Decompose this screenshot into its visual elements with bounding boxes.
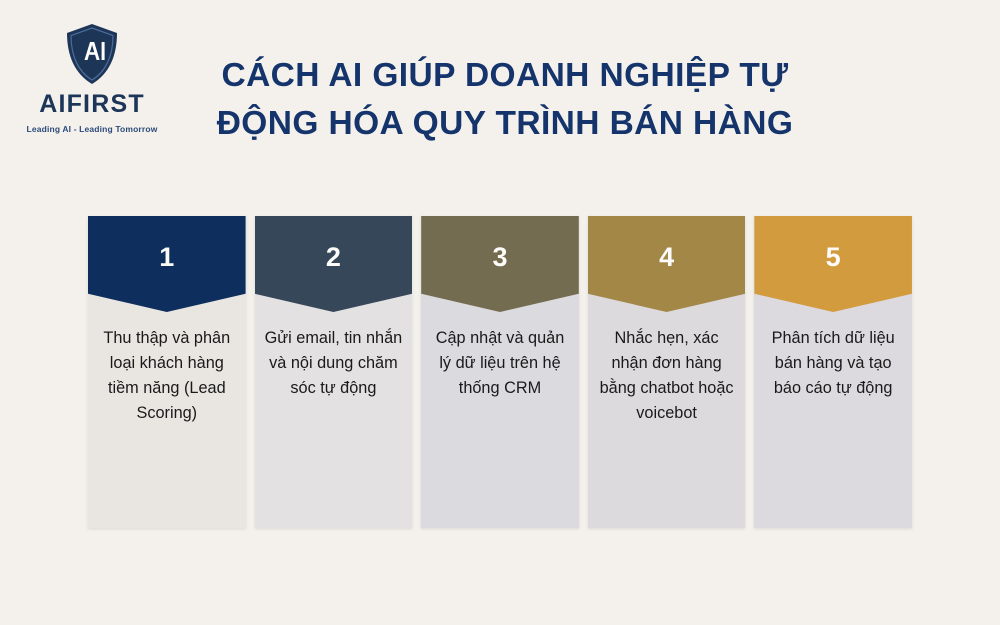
step-number: 2 <box>326 244 341 271</box>
step-number: 3 <box>492 244 507 271</box>
step-description: Cập nhật và quản lý dữ liệu trên hệ thốn… <box>428 326 572 401</box>
page-title-line-1: CÁCH AI GIÚP DOANH NGHIỆP TỰ <box>180 52 830 100</box>
brand-logo: AIFIRST Leading AI - Leading Tomorrow <box>18 22 166 134</box>
step-description: Thu thập và phân loại khách hàng tiềm nă… <box>95 326 239 426</box>
step-chevron-header: 2 <box>255 216 413 312</box>
step-card[interactable]: 1Thu thập và phân loại khách hàng tiềm n… <box>88 216 246 528</box>
steps-row: 1Thu thập và phân loại khách hàng tiềm n… <box>88 216 912 528</box>
page-title-line-2: ĐỘNG HÓA QUY TRÌNH BÁN HÀNG <box>180 100 830 148</box>
step-chevron-header: 3 <box>421 216 579 312</box>
step-number: 1 <box>159 244 174 271</box>
step-card[interactable]: 2Gửi email, tin nhắn và nội dung chăm só… <box>255 216 413 528</box>
step-chevron-header: 1 <box>88 216 246 312</box>
step-card[interactable]: 4Nhắc hẹn, xác nhận đơn hàng bằng chatbo… <box>588 216 746 528</box>
step-card[interactable]: 5Phân tích dữ liệu bán hàng và tạo báo c… <box>754 216 912 528</box>
step-description: Gửi email, tin nhắn và nội dung chăm sóc… <box>262 326 406 401</box>
step-number: 4 <box>659 244 674 271</box>
brand-name: AIFIRST <box>18 90 166 119</box>
step-chevron-header: 4 <box>588 216 746 312</box>
step-description: Nhắc hẹn, xác nhận đơn hàng bằng chatbot… <box>595 326 739 426</box>
step-description: Phân tích dữ liệu bán hàng và tạo báo cá… <box>761 326 905 401</box>
brand-tagline: Leading AI - Leading Tomorrow <box>18 124 166 134</box>
step-chevron-header: 5 <box>754 216 912 312</box>
step-card[interactable]: 3Cập nhật và quản lý dữ liệu trên hệ thố… <box>421 216 579 528</box>
page-title: CÁCH AI GIÚP DOANH NGHIỆP TỰ ĐỘNG HÓA QU… <box>180 52 830 147</box>
step-number: 5 <box>826 244 841 271</box>
shield-ai-icon <box>64 22 120 86</box>
